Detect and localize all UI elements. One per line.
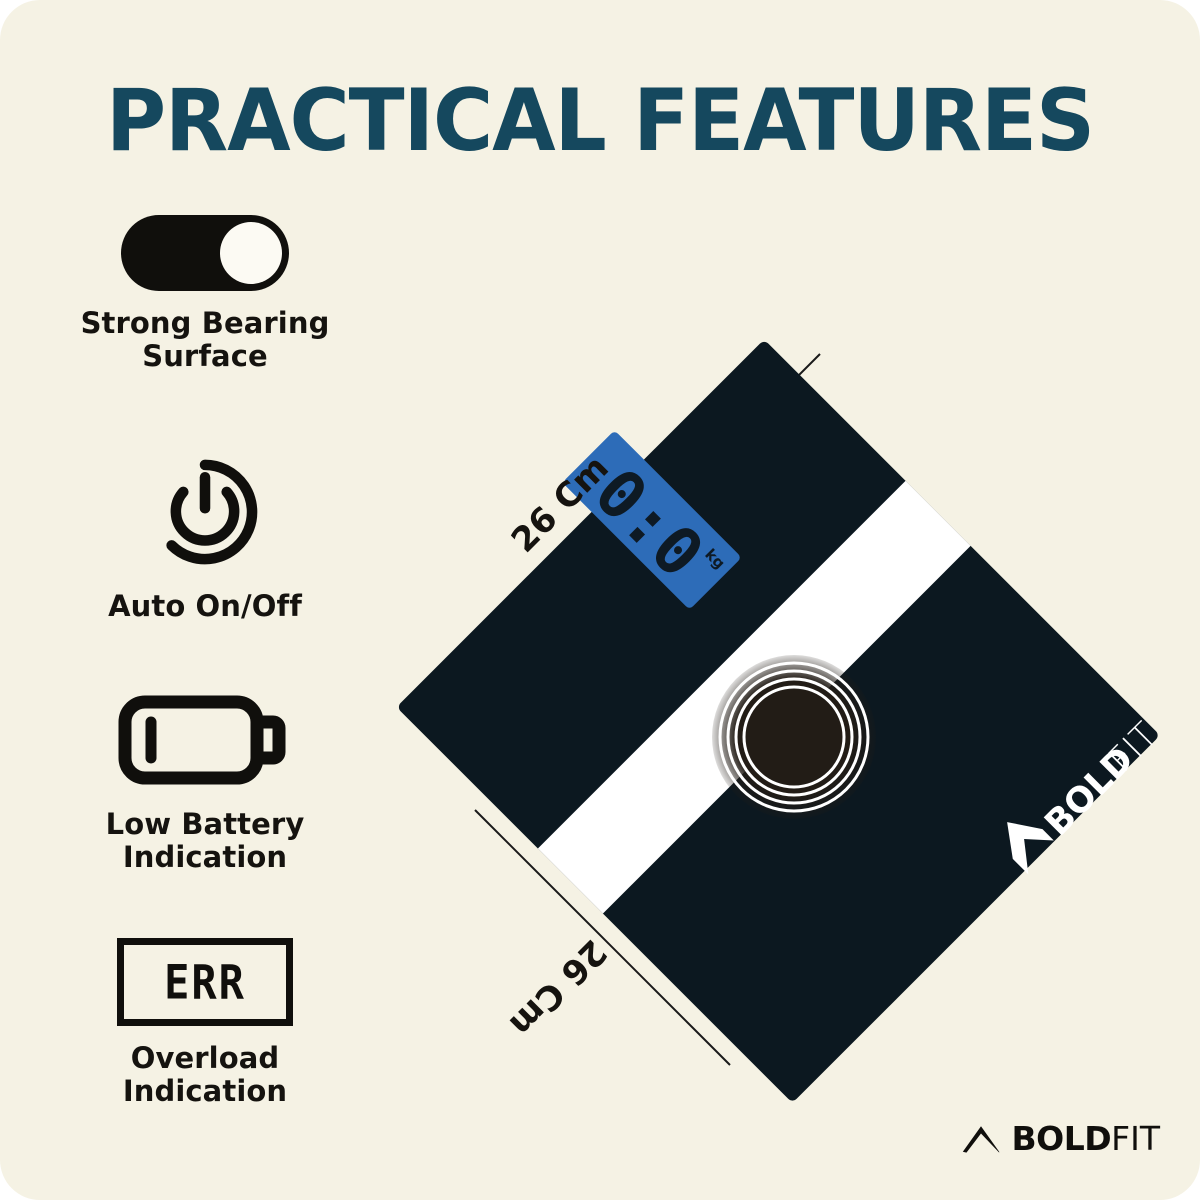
err-text: ERR: [164, 955, 246, 1010]
brand-mark-icon: [961, 1124, 1001, 1154]
brand-text-bold: BOLD: [1011, 1119, 1111, 1158]
feature-label-line1: Auto On/Off: [108, 589, 302, 623]
infographic-canvas: PRACTICAL FEATURES Strong Bearing Surfac…: [0, 0, 1200, 1200]
feature-label-line1: Low Battery: [106, 807, 305, 841]
brand-text: BOLDFIT: [1011, 1119, 1160, 1158]
feature-label-line1: Strong Bearing: [81, 306, 330, 340]
page-title: PRACTICAL FEATURES: [0, 78, 1200, 164]
feature-label-line2: Indication: [123, 840, 287, 874]
toggle-knob: [220, 222, 282, 284]
product-illustration: 0:0 kg BOLD FIT 26 Cm 26 Cm: [300, 250, 1200, 1150]
brand-logo: BOLDFIT: [961, 1119, 1160, 1158]
sensor-medallion: [712, 655, 876, 819]
feature-label-line2: Indication: [123, 1074, 287, 1108]
brand-text-light: FIT: [1111, 1119, 1160, 1158]
dimension-label-left: 26 Cm: [501, 931, 614, 1044]
feature-label-line2: Surface: [142, 339, 268, 373]
feature-label-line1: Overload: [131, 1041, 280, 1075]
